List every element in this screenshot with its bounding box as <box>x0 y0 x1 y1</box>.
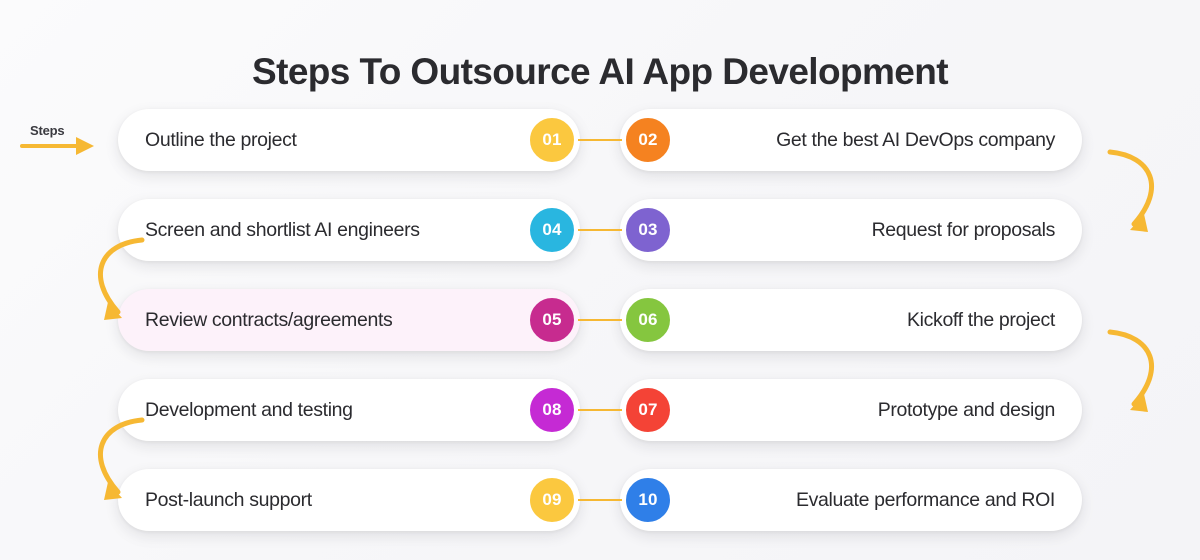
step-badge-07[interactable]: 07 <box>622 384 674 436</box>
step-row-4: Development and testing 08 07 Prototype … <box>0 379 1200 441</box>
step-badge-08[interactable]: 08 <box>526 384 578 436</box>
step-label: Request for proposals <box>872 219 1055 242</box>
step-label: Development and testing <box>145 399 353 422</box>
step-card-01[interactable]: Outline the project <box>118 109 580 171</box>
step-badge-02[interactable]: 02 <box>622 114 674 166</box>
step-card-05[interactable]: Review contracts/agreements <box>118 289 580 351</box>
step-row-1: Outline the project 01 02 Get the best A… <box>0 109 1200 171</box>
step-card-04[interactable]: Screen and shortlist AI engineers <box>118 199 580 261</box>
step-badge-06[interactable]: 06 <box>622 294 674 346</box>
flow-arrow-left-1-icon <box>52 228 160 336</box>
row-connector-line <box>578 499 622 501</box>
step-label: Screen and shortlist AI engineers <box>145 219 420 242</box>
step-badge-04[interactable]: 04 <box>526 204 578 256</box>
infographic-canvas: Steps To Outsource AI App Development St… <box>0 0 1200 560</box>
step-card-03[interactable]: Request for proposals <box>620 199 1082 261</box>
step-card-08[interactable]: Development and testing <box>118 379 580 441</box>
step-badge-10[interactable]: 10 <box>622 474 674 526</box>
step-row-5: Post-launch support 09 10 Evaluate perfo… <box>0 469 1200 531</box>
step-card-07[interactable]: Prototype and design <box>620 379 1082 441</box>
row-connector-line <box>578 229 622 231</box>
row-connector-line <box>578 139 622 141</box>
step-badge-09[interactable]: 09 <box>526 474 578 526</box>
row-connector-line <box>578 409 622 411</box>
step-card-09[interactable]: Post-launch support <box>118 469 580 531</box>
step-card-06[interactable]: Kickoff the project <box>620 289 1082 351</box>
step-label: Kickoff the project <box>907 309 1055 332</box>
step-label: Post-launch support <box>145 489 312 512</box>
flow-arrow-right-1-icon <box>1092 140 1200 248</box>
step-row-3: Review contracts/agreements 05 06 Kickof… <box>0 289 1200 351</box>
step-badge-03[interactable]: 03 <box>622 204 674 256</box>
step-card-10[interactable]: Evaluate performance and ROI <box>620 469 1082 531</box>
step-label: Review contracts/agreements <box>145 309 392 332</box>
step-card-02[interactable]: Get the best AI DevOps company <box>620 109 1082 171</box>
row-connector-line <box>578 319 622 321</box>
step-badge-05[interactable]: 05 <box>526 294 578 346</box>
flow-arrow-left-2-icon <box>52 408 160 516</box>
step-label: Outline the project <box>145 129 297 152</box>
flow-arrow-right-2-icon <box>1092 320 1200 428</box>
step-row-2: Screen and shortlist AI engineers 04 03 … <box>0 199 1200 261</box>
step-label: Prototype and design <box>878 399 1055 422</box>
step-badge-01[interactable]: 01 <box>526 114 578 166</box>
step-label: Evaluate performance and ROI <box>796 489 1055 512</box>
page-title: Steps To Outsource AI App Development <box>0 51 1200 93</box>
step-label: Get the best AI DevOps company <box>776 129 1055 152</box>
